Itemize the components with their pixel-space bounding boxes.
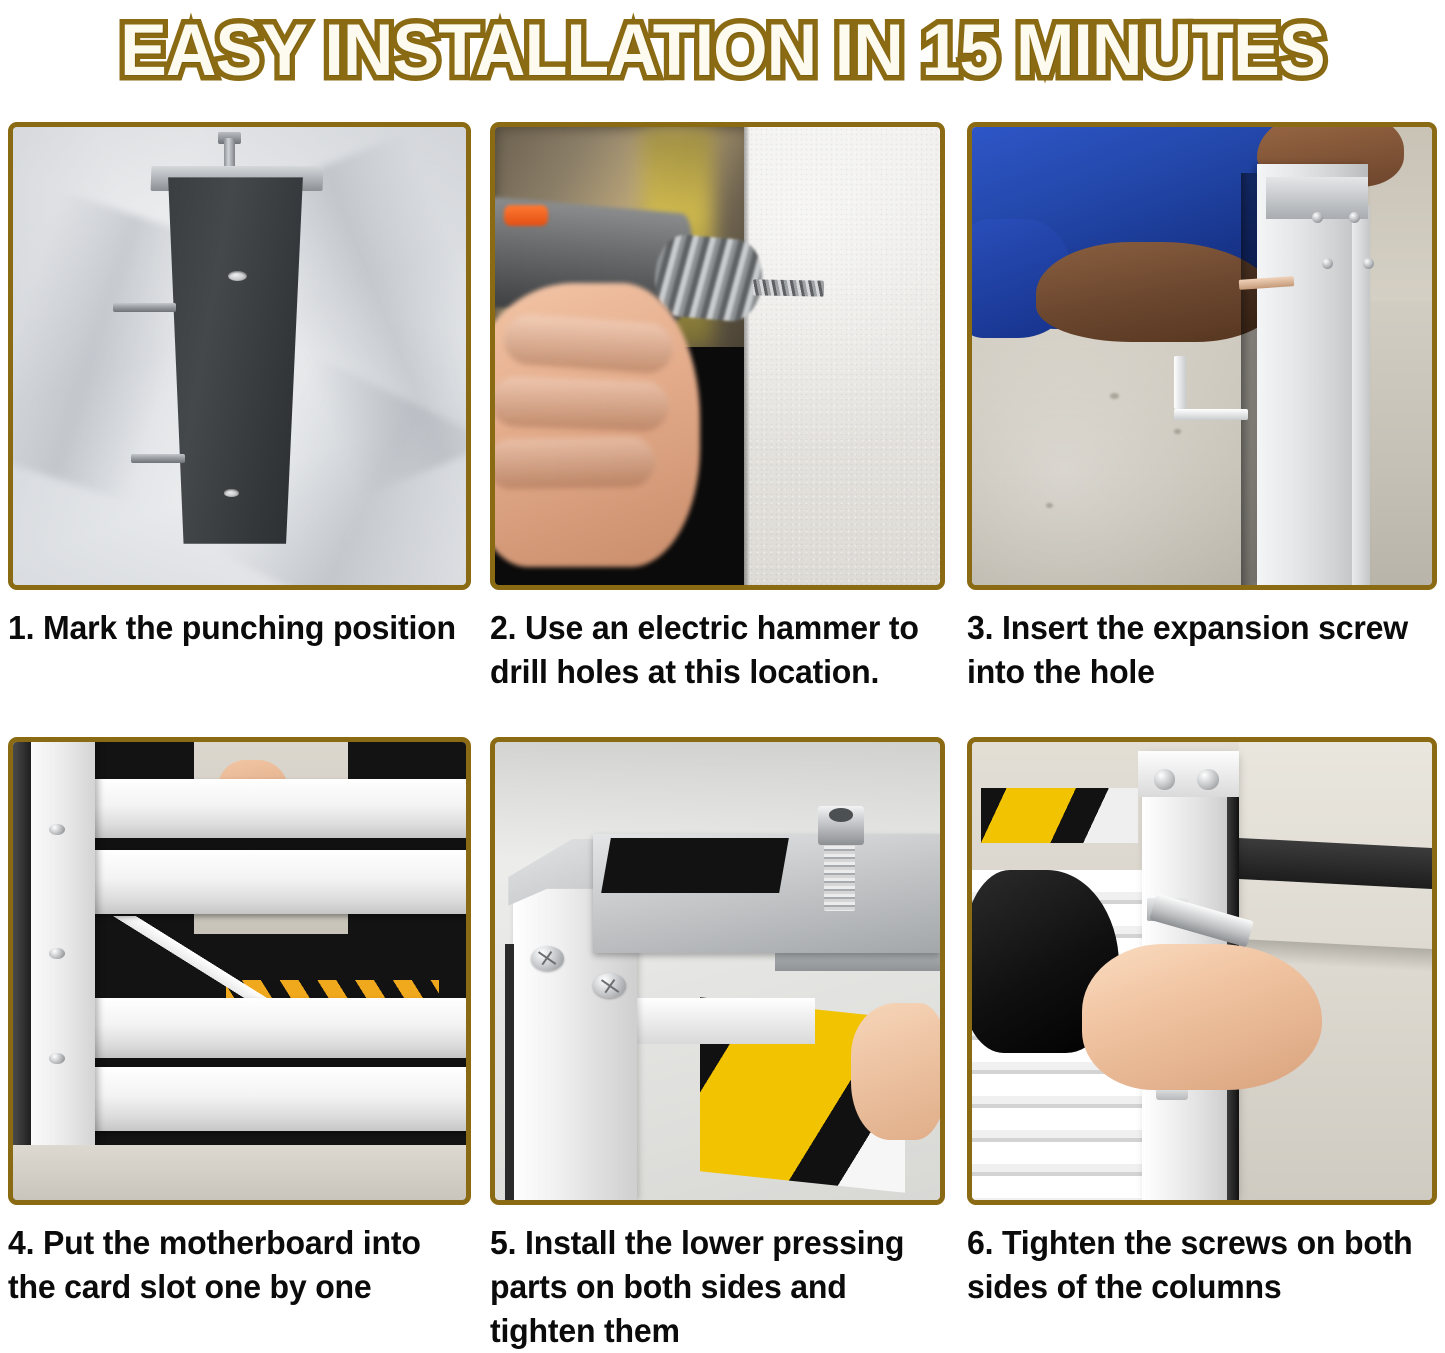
side-bolt (113, 303, 176, 311)
step-photo-2 (495, 127, 940, 585)
hand (1082, 944, 1321, 1091)
step-photo-frame-5 (490, 737, 945, 1205)
diagonal-panel (113, 916, 267, 998)
wall-edge (744, 127, 750, 585)
step-card-3: 3. Insert the expansion screw into the h… (967, 122, 1437, 694)
allen-key-icon (1174, 356, 1248, 420)
barrier-board (85, 779, 466, 839)
step-card-4: 4. Put the motherboard into the card slo… (8, 737, 471, 1309)
step-caption-2: 2. Use an electric hammer to drill holes… (490, 606, 931, 694)
step-photo-frame-2 (490, 122, 945, 590)
drill-trigger (504, 205, 549, 226)
column-dark-edge (505, 944, 514, 1200)
mounting-hole (224, 489, 239, 497)
aluminium-column (1257, 164, 1367, 585)
hazard-stripe-tape (981, 788, 1137, 843)
board-gap (85, 1058, 466, 1067)
step-photo-frame-3 (967, 122, 1437, 590)
step-caption-6: 6. Tighten the screws on both sides of t… (967, 1221, 1423, 1309)
step-caption-5: 5. Install the lower pressing parts on b… (490, 1221, 931, 1353)
step-card-5: 5. Install the lower pressing parts on b… (490, 737, 945, 1353)
step-photo-1 (13, 127, 466, 585)
phillips-screw-icon (1154, 769, 1175, 789)
expansion-screw (1363, 258, 1374, 269)
steps-row-2: 4. Put the motherboard into the card slo… (0, 737, 1445, 1352)
page-title: EASY INSTALLATION IN 15 MINUTES (120, 14, 1325, 87)
textured-wall (744, 127, 940, 585)
step-photo-6 (972, 742, 1432, 1200)
barrier-board (85, 1067, 466, 1131)
header-banner: EASY INSTALLATION IN 15 MINUTES (0, 0, 1445, 100)
finger (495, 376, 669, 433)
step-caption-1: 1. Mark the punching position (8, 606, 457, 650)
steps-row-1: 1. Mark the punching position (0, 122, 1445, 737)
step-photo-3 (972, 127, 1432, 585)
bracket-slot (601, 838, 789, 893)
step-photo-frame-1 (8, 122, 471, 590)
floor-mark (1110, 393, 1119, 399)
thumb-bolt-shaft (824, 838, 855, 911)
column-cap (1138, 751, 1239, 797)
barrier-board (629, 998, 816, 1044)
step-photo-4 (13, 742, 466, 1200)
step-card-2: 2. Use an electric hammer to drill holes… (490, 122, 945, 694)
floor-mark (1174, 429, 1180, 434)
finger (495, 437, 656, 490)
step-caption-4: 4. Put the motherboard into the card slo… (8, 1221, 457, 1309)
steps-grid: 1. Mark the punching position (0, 122, 1445, 1352)
board-gap (85, 838, 466, 849)
barrier-board (85, 850, 466, 914)
expansion-screw (1349, 212, 1360, 223)
card-slot-column (31, 742, 94, 1200)
step-photo-frame-4 (8, 737, 471, 1205)
column-screw (49, 948, 64, 959)
step-caption-3: 3. Insert the expansion screw into the h… (967, 606, 1423, 694)
step-photo-frame-6 (967, 737, 1437, 1205)
floor-mark (1046, 503, 1053, 508)
step-card-1: 1. Mark the punching position (8, 122, 471, 650)
finger (851, 1003, 940, 1140)
side-bolt (131, 454, 185, 462)
barrier-board (85, 998, 466, 1058)
step-card-6: 6. Tighten the screws on both sides of t… (967, 737, 1437, 1309)
floor (13, 1145, 466, 1200)
installation-infographic: EASY INSTALLATION IN 15 MINUTES (0, 0, 1445, 1352)
step-photo-5 (495, 742, 940, 1200)
phillips-screw-icon (531, 946, 564, 971)
drill-bit (753, 280, 824, 298)
expansion-screw (1322, 258, 1333, 269)
phillips-screw-icon (1197, 769, 1218, 789)
